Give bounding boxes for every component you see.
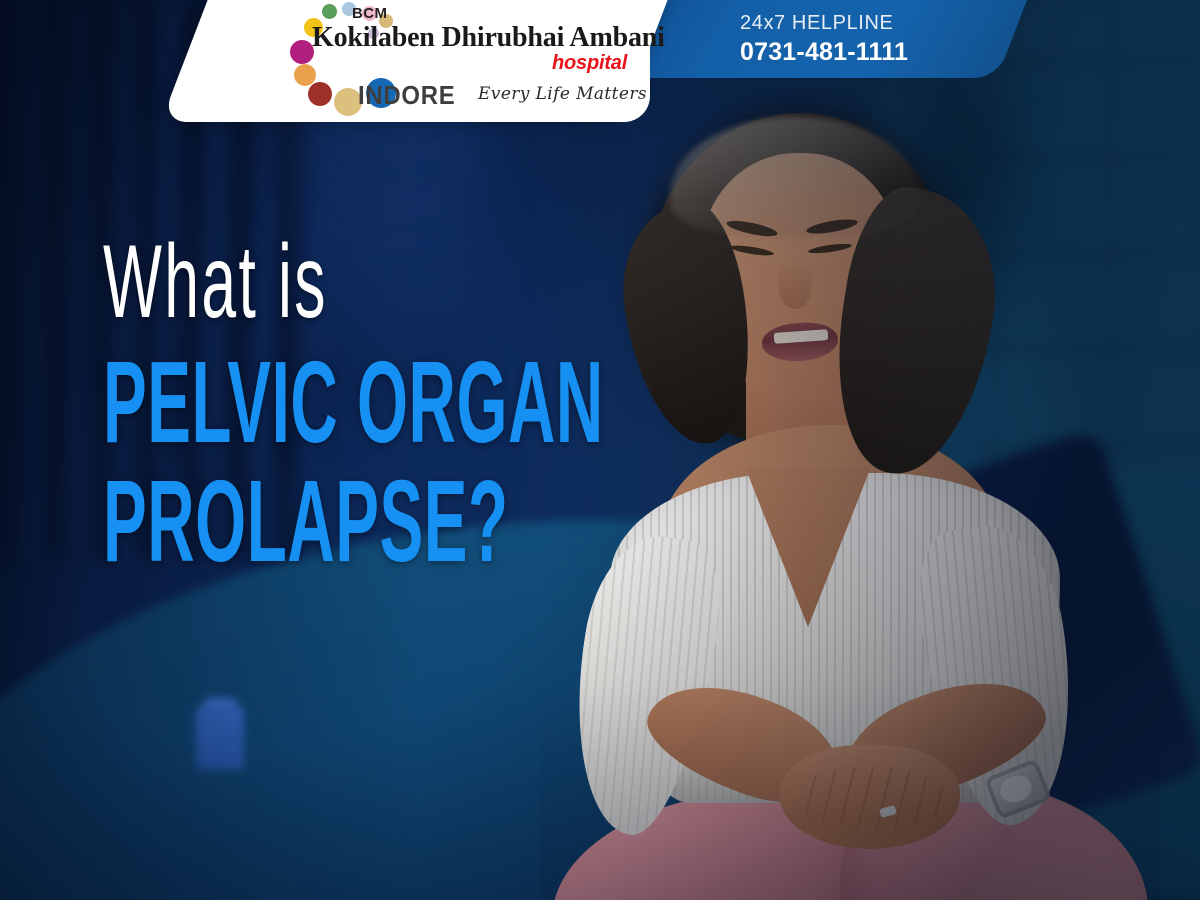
helpline-text-group: 24x7 HELPLINE 0731-481-1111 <box>740 12 1000 67</box>
logo-tagline: Every Life Matters <box>478 84 647 104</box>
headline-highlight: PELVIC ORGAN PROLAPSE? <box>103 343 453 582</box>
logo-dot-1 <box>322 4 337 19</box>
headline-line-2: PELVIC ORGAN <box>103 343 453 462</box>
logo-hospital-name: Kokilaben Dhirubhai Ambani <box>312 22 665 54</box>
headline-line-1: What is <box>103 234 475 331</box>
logo-dot-9 <box>308 82 332 106</box>
logo-hospital-word: hospital <box>552 52 627 75</box>
helpline-number[interactable]: 0731-481-1111 <box>740 38 1000 67</box>
logo-dot-8 <box>294 64 316 86</box>
helpline-label: 24x7 HELPLINE <box>740 12 1000 35</box>
headline-line-3: PROLAPSE? <box>103 462 453 581</box>
logo-bcm-label: BCM <box>352 5 387 22</box>
headline-block: What is PELVIC ORGAN PROLAPSE? <box>103 234 723 582</box>
logo-city-label: INDORE <box>358 80 455 111</box>
logo-dot-7 <box>290 40 314 64</box>
hospital-logo[interactable]: BCM Kokilaben Dhirubhai Ambani hospital … <box>278 0 658 122</box>
promo-banner: 24x7 HELPLINE 0731-481-1111 BCM Kokilabe… <box>0 0 1200 900</box>
